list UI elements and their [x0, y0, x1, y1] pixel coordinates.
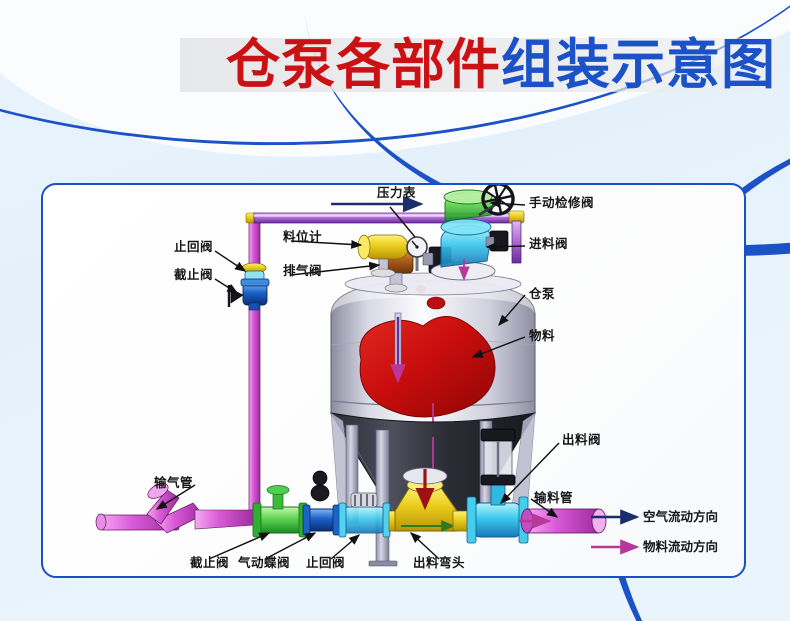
label-material: 物料: [529, 330, 555, 343]
label-discharge-elbow: 出料弯头: [413, 557, 465, 570]
label-check-valve-bottom: 止回阀: [306, 557, 345, 570]
page-title: 仓泵各部件组装示意图: [180, 22, 780, 108]
page-title-red: 仓泵各部件: [226, 38, 501, 92]
label-stop-valve-bottom: 截止阀: [190, 557, 229, 570]
legend-material-flow-label: 物料流动方向: [643, 541, 718, 554]
label-manual-repair-valve: 手动检修阀: [529, 197, 594, 210]
legend-air-flow-label: 空气流动方向: [643, 511, 718, 524]
page-root: 仓泵各部件组装示意图: [0, 0, 790, 621]
label-discharge-valve: 出料阀: [562, 434, 601, 447]
label-pressure-gauge: 压力表: [377, 187, 416, 200]
label-pneumatic-butterfly: 气动蝶阀: [238, 557, 290, 570]
label-silo-pump: 仓泵: [529, 288, 555, 301]
label-level-gauge: 料位计: [283, 231, 322, 244]
diagram-card: 止回阀 截止阀 料位计 排气阀 压力表 手动检修阀 进料阀 仓泵 物料 出料阀 …: [41, 183, 746, 578]
label-exhaust-valve: 排气阀: [283, 265, 322, 278]
label-air-pipe: 输气管: [154, 477, 193, 490]
label-material-pipe: 输料管: [534, 492, 573, 505]
page-title-blue: 组装示意图: [501, 38, 776, 92]
silo-pump-diagram: [43, 185, 744, 576]
label-feed-valve: 进料阀: [529, 238, 568, 251]
label-stop-valve-top: 截止阀: [174, 269, 213, 282]
label-check-valve-top: 止回阀: [174, 241, 213, 254]
